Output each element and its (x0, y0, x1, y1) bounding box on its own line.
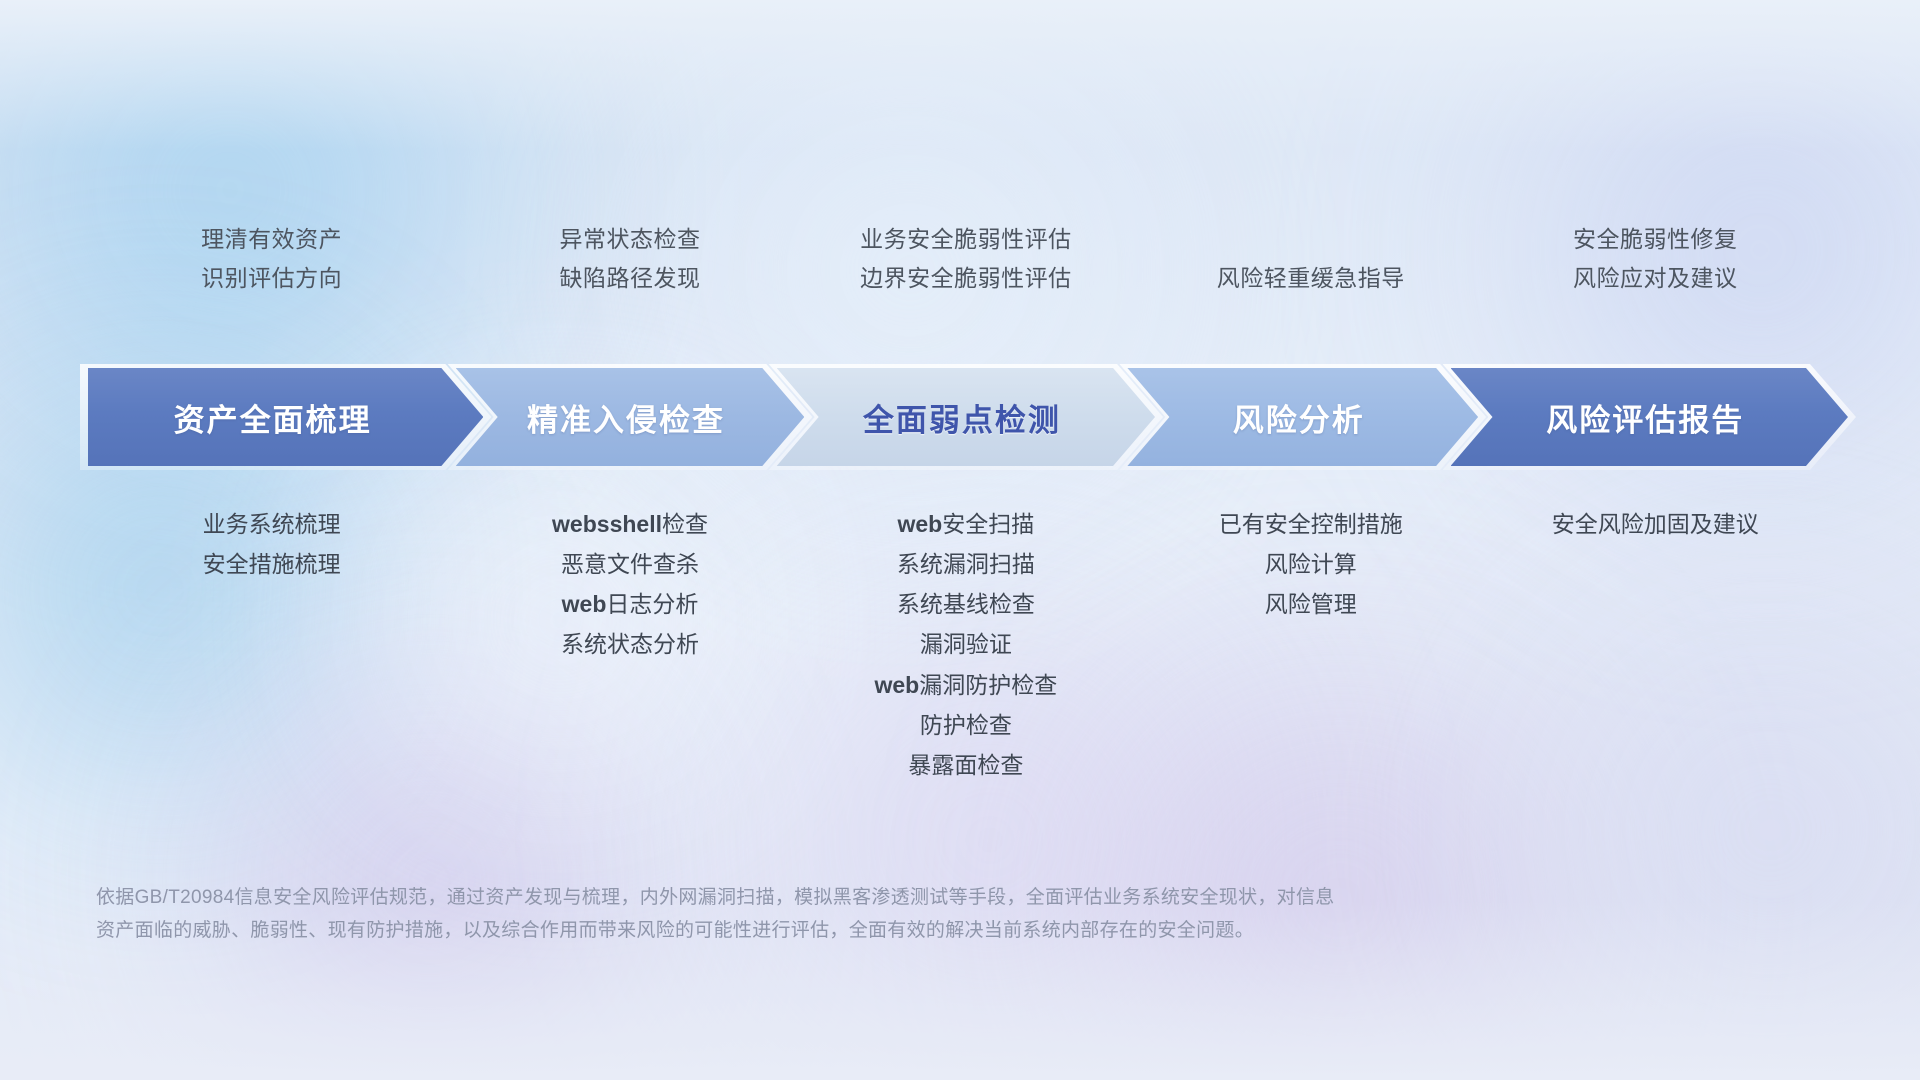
stage-arrow-risk-report[interactable]: 风险评估报告 (1451, 368, 1848, 466)
top-label-column-asset-inventory: 理清有效资产识别评估方向 (201, 228, 342, 290)
detail-item: 系统基线检查 (897, 592, 1035, 616)
top-label-group: 风险轻重缓急指导 (1217, 228, 1405, 290)
detail-item-emphasis: web (874, 672, 919, 698)
detail-item: 风险计算 (1265, 552, 1357, 576)
top-label: 异常状态检查 (560, 228, 701, 251)
footer-line-2: 资产面临的威胁、脆弱性、现有防护措施，以及综合作用而带来风险的可能性进行评估，全… (96, 915, 1616, 948)
detail-item: web安全扫描 (897, 512, 1034, 536)
top-label-row: 理清有效资产识别评估方向异常状态检查缺陷路径发现业务安全脆弱性评估边界安全脆弱性… (0, 228, 1920, 318)
stage-arrow-band: 资产全面梳理精准入侵检查全面弱点检测风险分析风险评估报告 (88, 368, 1848, 466)
stage-title-risk-report: 风险评估报告 (1451, 395, 1848, 440)
detail-item: 系统漏洞扫描 (897, 552, 1035, 576)
footer-line-1: 依据GB/T20984信息安全风险评估规范，通过资产发现与梳理，内外网漏洞扫描，… (96, 882, 1616, 915)
stage-arrow-weakness-detection[interactable]: 全面弱点检测 (777, 368, 1155, 466)
top-label: 安全脆弱性修复 (1573, 228, 1738, 251)
top-label-group: 业务安全脆弱性评估边界安全脆弱性评估 (860, 228, 1072, 290)
detail-item: 防护检查 (920, 713, 1012, 737)
process-diagram: 理清有效资产识别评估方向异常状态检查缺陷路径发现业务安全脆弱性评估边界安全脆弱性… (0, 0, 1920, 1080)
detail-column-risk-report: 安全风险加固及建议 (1552, 512, 1759, 536)
footer-description: 依据GB/T20984信息安全风险评估规范，通过资产发现与梳理，内外网漏洞扫描，… (96, 882, 1616, 947)
stage-title-risk-analysis: 风险分析 (1127, 395, 1478, 440)
top-label: 缺陷路径发现 (560, 267, 701, 290)
detail-item: web漏洞防护检查 (874, 673, 1057, 697)
detail-item: 风险管理 (1265, 592, 1357, 616)
top-label-column-weakness-detection: 业务安全脆弱性评估边界安全脆弱性评估 (860, 228, 1072, 290)
top-label: 理清有效资产 (201, 228, 342, 251)
top-label-column-risk-analysis: 风险轻重缓急指导 (1217, 228, 1405, 290)
detail-item: 暴露面检查 (908, 753, 1023, 777)
stage-arrow-asset-inventory[interactable]: 资产全面梳理 (88, 368, 483, 466)
detail-item: 已有安全控制措施 (1219, 512, 1403, 536)
detail-column-risk-analysis: 已有安全控制措施风险计算风险管理 (1219, 512, 1403, 616)
stage-title-intrusion-check: 精准入侵检查 (456, 395, 805, 440)
top-label-column-intrusion-check: 异常状态检查缺陷路径发现 (560, 228, 701, 290)
top-label-group: 异常状态检查缺陷路径发现 (560, 228, 701, 290)
detail-column-weakness-detection: web安全扫描系统漏洞扫描系统基线检查漏洞验证web漏洞防护检查防护检查暴露面检… (874, 512, 1057, 777)
top-label: 识别评估方向 (201, 267, 342, 290)
stage-title-weakness-detection: 全面弱点检测 (777, 395, 1155, 440)
top-label-group: 安全脆弱性修复风险应对及建议 (1573, 228, 1738, 290)
stage-arrow-intrusion-check[interactable]: 精准入侵检查 (456, 368, 805, 466)
detail-column-intrusion-check: websshell检查恶意文件查杀web日志分析系统状态分析 (552, 512, 708, 657)
top-label-column-risk-report: 安全脆弱性修复风险应对及建议 (1573, 228, 1738, 290)
detail-column-asset-inventory: 业务系统梳理安全措施梳理 (203, 512, 341, 576)
detail-item-emphasis: web (562, 591, 607, 617)
detail-item: web日志分析 (562, 592, 699, 616)
top-label: 边界安全脆弱性评估 (860, 267, 1072, 290)
stage-arrow-risk-analysis[interactable]: 风险分析 (1127, 368, 1478, 466)
detail-item: 业务系统梳理 (203, 512, 341, 536)
stage-title-asset-inventory: 资产全面梳理 (88, 395, 483, 440)
detail-item-emphasis: web (897, 511, 942, 537)
detail-item: 安全措施梳理 (203, 552, 341, 576)
detail-item: 安全风险加固及建议 (1552, 512, 1759, 536)
detail-item: 恶意文件查杀 (561, 552, 699, 576)
top-label: 风险轻重缓急指导 (1217, 267, 1405, 290)
detail-item: 漏洞验证 (920, 632, 1012, 656)
detail-item: 系统状态分析 (561, 632, 699, 656)
detail-item: websshell检查 (552, 512, 708, 536)
detail-item-emphasis: websshell (552, 511, 662, 537)
top-label-group: 理清有效资产识别评估方向 (201, 228, 342, 290)
top-label: 业务安全脆弱性评估 (860, 228, 1072, 251)
top-label: 风险应对及建议 (1573, 267, 1738, 290)
